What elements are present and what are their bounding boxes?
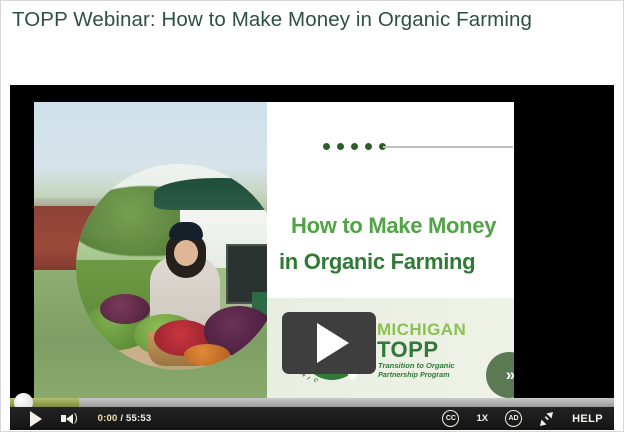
farmer-circle-photo [76, 164, 282, 370]
play-button[interactable] [30, 411, 42, 427]
playback-speed-button[interactable]: 1X [476, 413, 488, 424]
closed-captions-button[interactable]: CC [442, 410, 459, 427]
slide-dot [365, 143, 372, 150]
photo-farmer-beanie [169, 222, 203, 240]
slide-dot [337, 143, 344, 150]
photo-tent-top [154, 178, 282, 210]
ad-icon: AD [505, 410, 522, 427]
slide-dot [323, 143, 330, 150]
volume-waves-icon: ) [74, 413, 78, 424]
progress-buffer [10, 398, 614, 407]
progress-bar[interactable] [10, 398, 614, 407]
slide-dot-row [323, 143, 386, 150]
help-button[interactable]: HELP [572, 413, 603, 425]
cc-icon: CC [442, 410, 459, 427]
slide-photo-panel [34, 102, 292, 398]
volume-button[interactable]: ) [62, 413, 78, 424]
slide-rule [383, 146, 513, 148]
speaker-cone-icon [66, 414, 73, 424]
play-overlay-button[interactable] [282, 312, 376, 374]
expand-arrows-icon [539, 412, 555, 426]
page-title: TOPP Webinar: How to Make Money in Organ… [12, 3, 612, 36]
slide-heading-line1: How to Make Money [291, 208, 514, 244]
audio-description-button[interactable]: AD [505, 410, 522, 427]
player-control-bar: ) 0:00 / 55:53 CC 1X AD [10, 407, 614, 430]
slide-dot [351, 143, 358, 150]
time-display: 0:00 / 55:53 [98, 413, 152, 424]
total-time: / 55:53 [120, 413, 151, 424]
logo-subtitle-line1: Transition to Organic [378, 361, 455, 370]
slide-canvas: How to Make Money in Organic Farming G R… [10, 102, 514, 398]
logo-topp-text: TOPP [377, 337, 439, 363]
photo-farmer-face [174, 240, 198, 266]
slide-heading-line2: in Organic Farming [279, 244, 514, 280]
photo-carrots [184, 344, 230, 366]
page-root: TOPP Webinar: How to Make Money in Organ… [1, 1, 623, 431]
video-player[interactable]: How to Make Money in Organic Farming G R… [10, 85, 614, 430]
fullscreen-button[interactable] [539, 412, 555, 426]
current-time: 0:00 [98, 413, 118, 424]
logo-subtitle-line2: Partnership Program [378, 370, 450, 379]
play-triangle-icon [317, 323, 349, 363]
slide-next-chevron-icon[interactable]: » [486, 352, 514, 398]
video-stage[interactable]: How to Make Money in Organic Farming G R… [10, 85, 614, 398]
